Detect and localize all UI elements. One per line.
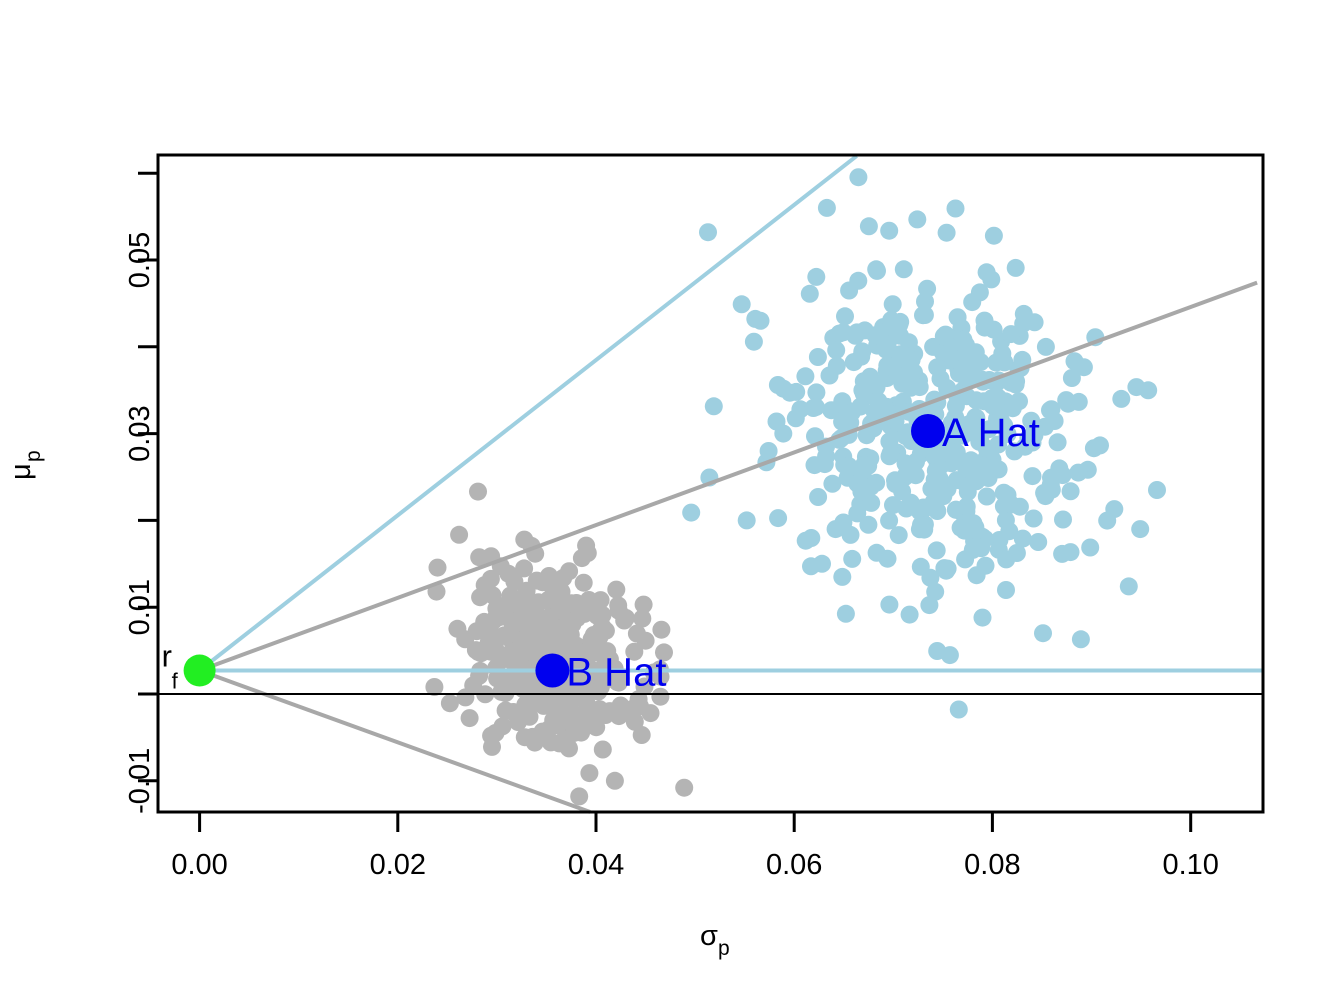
data-point-cluster-a bbox=[1131, 520, 1149, 538]
data-point-cluster-b bbox=[490, 653, 508, 671]
data-point-cluster-a bbox=[934, 487, 952, 505]
axis-ticks-and-labels: 0.000.020.040.060.080.10-0.010.010.030.0… bbox=[124, 173, 1219, 881]
data-point-cluster-b bbox=[563, 594, 581, 612]
data-point-cluster-a bbox=[1062, 482, 1080, 500]
y-axis-title-base: μ bbox=[5, 463, 37, 480]
data-point-cluster-a bbox=[876, 398, 894, 416]
data-point-cluster-a bbox=[860, 217, 878, 235]
data-point-cluster-b bbox=[529, 615, 547, 633]
data-point-cluster-a bbox=[1002, 325, 1020, 343]
data-point-cluster-a bbox=[1148, 481, 1166, 499]
data-point-cluster-a bbox=[682, 504, 700, 522]
data-point-cluster-a bbox=[1007, 259, 1025, 277]
data-point-cluster-a bbox=[880, 433, 898, 451]
data-point-cluster-a bbox=[1054, 511, 1072, 529]
data-point-cluster-a bbox=[1085, 439, 1103, 457]
data-point-cluster-a bbox=[1081, 539, 1099, 557]
x-axis-title: σ p bbox=[700, 920, 730, 960]
data-point-cluster-a bbox=[882, 311, 900, 329]
reference-lines bbox=[158, 156, 1263, 812]
x-axis-tick-label: 0.06 bbox=[766, 849, 822, 881]
data-point-cluster-a bbox=[958, 498, 976, 516]
data-point-cluster-a bbox=[807, 268, 825, 286]
data-point-cluster-a bbox=[823, 475, 841, 493]
data-point-cluster-a bbox=[1069, 464, 1087, 482]
data-point-cluster-b bbox=[642, 704, 660, 722]
data-point-cluster-a bbox=[862, 494, 880, 512]
risk-free-rate-sublabel: f bbox=[172, 669, 179, 694]
data-point-cluster-b bbox=[628, 625, 646, 643]
data-point-cluster-a bbox=[931, 470, 949, 488]
data-point-cluster-a bbox=[941, 646, 959, 664]
data-point-cluster-a bbox=[705, 397, 723, 415]
data-point-cluster-a bbox=[859, 516, 877, 534]
data-point-cluster-b bbox=[675, 779, 693, 797]
data-point-cluster-a bbox=[840, 457, 858, 475]
data-point-cluster-a bbox=[809, 348, 827, 366]
data-point-cluster-a bbox=[809, 488, 827, 506]
data-point-cluster-b bbox=[495, 626, 513, 644]
data-point-cluster-a bbox=[901, 606, 919, 624]
data-point-cluster-a bbox=[997, 550, 1015, 568]
data-point-cluster-a bbox=[796, 367, 814, 385]
data-point-cluster-a bbox=[880, 596, 898, 614]
x-axis-tick-label: 0.08 bbox=[964, 849, 1020, 881]
scatter-plot-figure: 0.000.020.040.060.080.10-0.010.010.030.0… bbox=[0, 0, 1344, 1008]
b-hat-marker[interactable] bbox=[535, 654, 569, 688]
data-point-cluster-a bbox=[769, 509, 787, 527]
data-point-cluster-a bbox=[995, 353, 1013, 371]
data-point-cluster-a bbox=[1105, 500, 1123, 518]
data-point-cluster-a bbox=[985, 227, 1003, 245]
y-axis-title-subscript: p bbox=[22, 450, 45, 462]
data-point-cluster-a bbox=[1000, 522, 1018, 540]
data-point-cluster-a bbox=[1015, 305, 1033, 323]
data-point-cluster-b bbox=[607, 581, 625, 599]
data-point-cluster-a bbox=[884, 295, 902, 313]
data-point-cluster-a bbox=[1037, 338, 1055, 356]
data-point-cluster-a bbox=[843, 550, 861, 568]
data-point-cluster-a bbox=[733, 295, 751, 313]
data-point-cluster-b bbox=[469, 483, 487, 501]
data-point-cluster-a bbox=[821, 367, 839, 385]
data-point-cluster-a bbox=[1007, 375, 1025, 393]
x-axis-tick-label: 0.10 bbox=[1162, 849, 1218, 881]
y-axis-tick-label: 0.05 bbox=[124, 232, 156, 288]
data-point-cluster-a bbox=[925, 446, 943, 464]
data-point-cluster-a bbox=[868, 544, 886, 562]
data-point-cluster-a bbox=[830, 325, 848, 343]
data-point-cluster-a bbox=[818, 199, 836, 217]
data-point-cluster-a bbox=[806, 456, 824, 474]
data-point-cluster-a bbox=[997, 581, 1015, 599]
data-point-cluster-a bbox=[964, 454, 982, 472]
data-point-cluster-a bbox=[834, 514, 852, 532]
y-axis-tick-label-group: -0.01 bbox=[124, 748, 156, 814]
data-point-cluster-a bbox=[966, 518, 984, 536]
data-point-cluster-a bbox=[1024, 467, 1042, 485]
data-point-cluster-b bbox=[579, 544, 597, 562]
data-point-cluster-a bbox=[797, 532, 815, 550]
data-point-cluster-b bbox=[606, 772, 624, 790]
data-point-cluster-b bbox=[594, 618, 612, 636]
data-point-cluster-a bbox=[1042, 476, 1060, 494]
data-point-cluster-b bbox=[429, 559, 447, 577]
data-point-cluster-a bbox=[813, 555, 831, 573]
data-point-cluster-a bbox=[1025, 510, 1043, 528]
data-point-cluster-a bbox=[861, 368, 879, 386]
data-point-cluster-a bbox=[957, 343, 975, 361]
data-point-cluster-a bbox=[1062, 543, 1080, 561]
efficient-frontier-upper bbox=[200, 283, 1258, 671]
data-point-cluster-a bbox=[916, 306, 934, 324]
data-point-cluster-a bbox=[947, 200, 965, 218]
data-point-cluster-a bbox=[937, 562, 955, 580]
data-point-cluster-a bbox=[908, 210, 926, 228]
data-point-cluster-a bbox=[837, 605, 855, 623]
data-point-cluster-a bbox=[1034, 624, 1052, 642]
data-point-cluster-a bbox=[849, 168, 867, 186]
data-point-cluster-b bbox=[635, 596, 653, 614]
data-point-cluster-b bbox=[624, 700, 642, 718]
data-point-cluster-a bbox=[949, 308, 967, 326]
data-point-cluster-a bbox=[846, 327, 864, 345]
data-point-cluster-b bbox=[549, 620, 567, 638]
x-axis-tick-label: 0.00 bbox=[171, 849, 227, 881]
x-axis-title-base: σ bbox=[700, 920, 718, 952]
data-point-cluster-a bbox=[745, 333, 763, 351]
data-point-cluster-a bbox=[977, 557, 995, 575]
data-point-cluster-b bbox=[580, 764, 598, 782]
data-point-cluster-b bbox=[484, 586, 502, 604]
data-point-cluster-a bbox=[898, 465, 916, 483]
data-point-cluster-b bbox=[495, 676, 513, 694]
annotation-markers: A HatB Hatrf bbox=[162, 411, 1040, 695]
data-point-cluster-a bbox=[804, 399, 822, 417]
data-point-cluster-a bbox=[895, 260, 913, 278]
data-point-cluster-b bbox=[483, 738, 501, 756]
data-point-cluster-b bbox=[593, 705, 611, 723]
data-point-cluster-a bbox=[956, 550, 974, 568]
data-point-cluster-a bbox=[839, 405, 857, 423]
data-point-cluster-a bbox=[918, 280, 936, 298]
y-axis-title: μ p bbox=[5, 450, 45, 480]
y-axis-tick-label-group: 0.01 bbox=[124, 579, 156, 635]
data-point-cluster-a bbox=[935, 327, 953, 345]
data-point-cluster-a bbox=[928, 541, 946, 559]
data-point-cluster-a bbox=[1075, 358, 1093, 376]
data-point-cluster-a bbox=[1120, 577, 1138, 595]
data-point-cluster-b bbox=[505, 573, 523, 591]
data-point-cluster-a bbox=[1029, 533, 1047, 551]
data-point-cluster-a bbox=[912, 558, 930, 576]
data-point-cluster-a bbox=[974, 609, 992, 627]
data-point-cluster-a bbox=[787, 409, 805, 427]
data-point-cluster-b bbox=[509, 713, 527, 731]
data-point-cluster-b bbox=[517, 643, 535, 661]
data-point-cluster-a bbox=[852, 348, 870, 366]
data-point-cluster-a bbox=[903, 351, 921, 369]
risk-free-rate-label: r bbox=[162, 639, 172, 674]
data-point-cluster-a bbox=[867, 260, 885, 278]
data-point-cluster-a bbox=[787, 383, 805, 401]
a-hat-marker[interactable] bbox=[911, 414, 945, 448]
data-point-cluster-a bbox=[978, 488, 996, 506]
data-point-clusters bbox=[425, 168, 1166, 805]
data-point-cluster-a bbox=[912, 516, 930, 534]
data-point-cluster-a bbox=[833, 568, 851, 586]
data-point-cluster-a bbox=[862, 478, 880, 496]
data-point-cluster-b bbox=[540, 590, 558, 608]
data-point-cluster-a bbox=[855, 456, 873, 474]
data-point-cluster-b bbox=[594, 741, 612, 759]
data-point-cluster-b bbox=[461, 709, 479, 727]
data-point-cluster-a bbox=[836, 307, 854, 325]
y-axis-tick-label: 0.03 bbox=[124, 405, 156, 461]
data-point-cluster-a bbox=[880, 222, 898, 240]
data-point-cluster-b bbox=[609, 596, 627, 614]
data-point-cluster-a bbox=[752, 312, 770, 330]
data-point-cluster-b bbox=[570, 787, 588, 805]
data-point-cluster-a bbox=[939, 344, 957, 362]
data-point-cluster-a bbox=[1072, 630, 1090, 648]
b-hat-label: B Hat bbox=[566, 651, 666, 695]
data-point-cluster-a bbox=[928, 358, 946, 376]
x-axis-tick-label: 0.02 bbox=[370, 849, 426, 881]
data-point-cluster-b bbox=[652, 621, 670, 639]
data-point-cluster-a bbox=[982, 270, 1000, 288]
data-point-cluster-a bbox=[738, 511, 756, 529]
data-point-cluster-b bbox=[552, 705, 570, 723]
x-axis-tick-label: 0.04 bbox=[568, 849, 624, 881]
data-point-cluster-a bbox=[1139, 381, 1157, 399]
data-point-cluster-a bbox=[950, 701, 968, 719]
data-point-cluster-b bbox=[450, 526, 468, 544]
data-point-cluster-a bbox=[938, 224, 956, 242]
data-point-cluster-b bbox=[633, 726, 651, 744]
data-point-cluster-b bbox=[537, 690, 555, 708]
y-axis-tick-label-group: 0.03 bbox=[124, 405, 156, 461]
y-axis-tick-label: -0.01 bbox=[124, 748, 156, 814]
data-point-cluster-a bbox=[989, 389, 1007, 407]
data-point-cluster-a bbox=[963, 293, 981, 311]
data-point-cluster-a bbox=[884, 358, 902, 376]
data-point-cluster-a bbox=[1070, 393, 1088, 411]
data-point-cluster-a bbox=[920, 596, 938, 614]
data-point-cluster-a bbox=[760, 442, 778, 460]
risk-free-rate-marker[interactable] bbox=[184, 655, 216, 687]
data-point-cluster-b bbox=[456, 630, 474, 648]
data-point-cluster-a bbox=[984, 457, 1002, 475]
data-point-cluster-a bbox=[1041, 401, 1059, 419]
data-point-cluster-b bbox=[441, 694, 459, 712]
data-point-cluster-a bbox=[840, 282, 858, 300]
data-point-cluster-b bbox=[506, 595, 524, 613]
data-point-cluster-a bbox=[699, 223, 717, 241]
data-point-cluster-a bbox=[972, 539, 990, 557]
data-point-cluster-a bbox=[774, 425, 792, 443]
data-point-cluster-a bbox=[1049, 433, 1067, 451]
data-point-cluster-a bbox=[967, 391, 985, 409]
data-point-cluster-b bbox=[557, 731, 575, 749]
data-point-cluster-a bbox=[801, 285, 819, 303]
data-point-cluster-a bbox=[985, 321, 1003, 339]
data-point-cluster-a bbox=[1002, 496, 1020, 514]
a-hat-label: A Hat bbox=[942, 411, 1040, 455]
data-point-cluster-b bbox=[464, 676, 482, 694]
y-axis-tick-label-group: 0.05 bbox=[124, 232, 156, 288]
data-point-cluster-a bbox=[879, 336, 897, 354]
x-axis-title-subscript: p bbox=[718, 937, 730, 960]
plot-canvas: 0.000.020.040.060.080.10-0.010.010.030.0… bbox=[0, 0, 1344, 1008]
data-point-cluster-b bbox=[575, 574, 593, 592]
data-point-cluster-a bbox=[890, 526, 908, 544]
data-point-cluster-a bbox=[1112, 390, 1130, 408]
data-point-cluster-a bbox=[902, 494, 920, 512]
y-axis-tick-label: 0.01 bbox=[124, 579, 156, 635]
